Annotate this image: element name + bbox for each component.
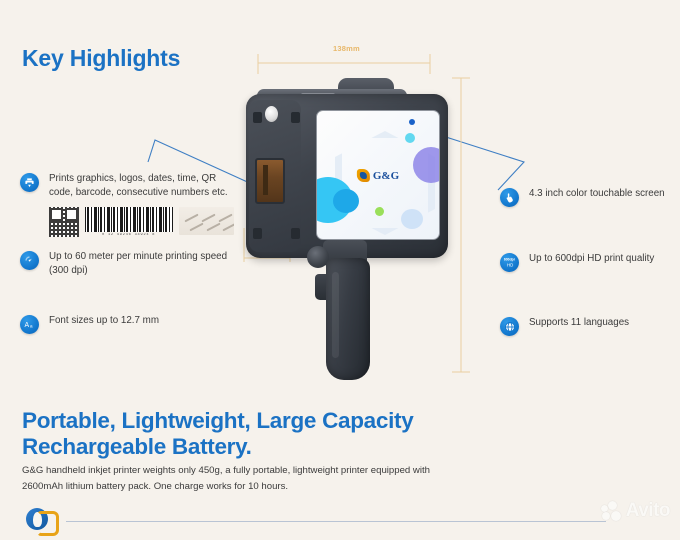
screen-dot-green: [375, 207, 384, 216]
svg-text:a: a: [30, 324, 33, 329]
svg-text:A: A: [24, 322, 29, 329]
bottom-section-title: Portable, Lightweight, Large Capacity Re…: [22, 408, 492, 461]
svg-text:600dpi: 600dpi: [504, 258, 515, 262]
screen-blob-pale: [401, 209, 423, 229]
screen-gg-logo: G&G: [357, 169, 399, 182]
svg-text:HD: HD: [507, 262, 513, 267]
bottom-section-paragraph: G&G handheld inkjet printer weights only…: [22, 463, 454, 494]
barcode-number-label: 0 12 49246 34924 8: [85, 233, 173, 237]
printer-clip-left-top: [253, 112, 262, 123]
feature-prints-graphics: Prints graphics, logos, dates, time, QR …: [20, 172, 235, 200]
barcode-sample-icon: [85, 207, 173, 232]
feature-font-size: A a Font sizes up to 12.7 mm: [20, 314, 235, 334]
feature-prints-graphics-label: Prints graphics, logos, dates, time, QR …: [49, 172, 235, 200]
barcode-sample: 0 12 49246 34924 8: [85, 207, 173, 237]
screen-dot-blue: [409, 119, 415, 125]
bottom-title-line-2: Rechargeable Battery.: [22, 434, 252, 459]
gg-brand-logo: [26, 508, 54, 534]
feature-languages-label: Supports 11 languages: [529, 316, 629, 330]
feature-touch-screen: 4.3 inch color touchable screen: [500, 187, 680, 207]
feature-print-speed: Up to 60 meter per minute printing speed…: [20, 250, 235, 278]
globe-icon: [500, 317, 519, 336]
speed-gauge-icon: [20, 251, 39, 270]
feature-print-quality: 600dpi HD Up to 600dpi HD print quality: [500, 252, 680, 272]
bottom-title-line-1: Portable, Lightweight, Large Capacity: [22, 408, 413, 433]
screen-blob-small-cyan: [405, 133, 415, 143]
touch-hand-icon: [500, 188, 519, 207]
page-title: Key Highlights: [22, 45, 180, 72]
print-droplet-icon: [20, 173, 39, 192]
printer-clip-left-bottom: [253, 228, 262, 239]
gg-logo-text: G&G: [373, 170, 399, 182]
screen-blob-blue: [333, 189, 359, 213]
printer-clip-bottom: [291, 228, 300, 239]
feature-font-size-label: Font sizes up to 12.7 mm: [49, 314, 159, 328]
feature-print-speed-label: Up to 60 meter per minute printing speed…: [49, 250, 235, 278]
date-print-sample-icon: [179, 207, 234, 235]
avito-watermark: Avito: [601, 500, 670, 522]
resolution-badge-icon: 600dpi HD: [500, 253, 519, 272]
feature-touch-screen-label: 4.3 inch color touchable screen: [529, 187, 665, 201]
gg-logo-gold-icon: [37, 511, 59, 536]
printer-handle: [326, 258, 370, 380]
printer-sensor-lens: [265, 106, 278, 122]
gg-logo-mark-icon: [357, 169, 370, 182]
footer-divider: [66, 521, 606, 522]
printer-touch-screen[interactable]: G&G: [316, 110, 440, 240]
avito-wordmark: Avito: [626, 500, 670, 522]
printer-clip-top: [291, 112, 300, 123]
dimension-width-label: 138mm: [333, 44, 360, 53]
avito-dots-icon: [601, 501, 623, 521]
qr-code-sample-icon: [49, 207, 79, 237]
feature-languages: Supports 11 languages: [500, 316, 680, 336]
handheld-printer-illustration: G&G: [243, 78, 458, 378]
printer-ink-cartridge: [255, 158, 285, 204]
feature-print-quality-label: Up to 600dpi HD print quality: [529, 252, 654, 266]
font-size-icon: A a: [20, 315, 39, 334]
print-sample-group: 0 12 49246 34924 8: [49, 207, 234, 241]
page-root: 138mm 54mm 217mm Key Highlights Portable…: [0, 0, 680, 540]
